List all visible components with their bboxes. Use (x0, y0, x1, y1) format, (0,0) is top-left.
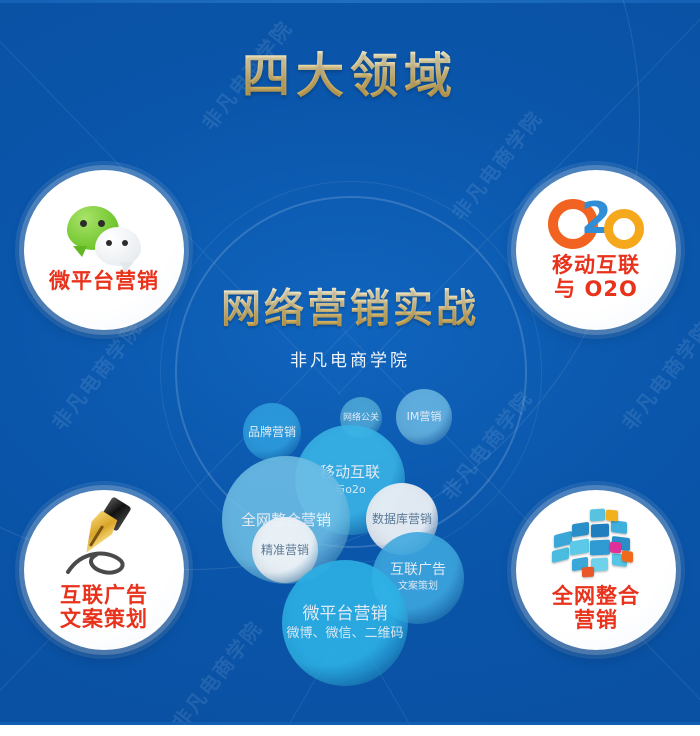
domain-medallion-bottom-left[interactable]: 互联广告 文案策划 (24, 490, 184, 650)
poster-root: 非凡电商学院 非凡电商学院 非凡电商学院 非凡电商学院 非凡电商学院 非凡电商学… (0, 0, 700, 736)
domain-medallion-bottom-right[interactable]: 全网整合 营销 (516, 490, 676, 650)
bubble-9[interactable]: 微平台营销微博、微信、二维码 (282, 560, 408, 686)
bubble-label: 微平台营销 (303, 604, 388, 625)
poster-heading-wrap: 四大领域 (0, 36, 700, 106)
center-subtitle: 非凡电商学院 (0, 346, 700, 371)
domain-label-top-left: 微平台营销 (49, 270, 159, 294)
domain-label-bottom-left-line1: 互联广告 (60, 584, 148, 608)
o2o-logo-icon: 2 (548, 198, 644, 250)
domain-label-top-right-line1: 移动互联 (552, 254, 640, 278)
bubble-label: 品牌营销 (248, 425, 296, 440)
wechat-icon (67, 206, 141, 266)
bubble-label: 互联广告 (390, 562, 446, 579)
pen-stroke-icon (64, 548, 142, 578)
domain-label-top-right-line2: 与 O2O (554, 278, 638, 302)
domain-medallion-top-right[interactable]: 2 移动互联 与 O2O (516, 170, 676, 330)
bubble-label: 数据库营销 (372, 512, 432, 527)
domain-label-bottom-right-line2: 营销 (574, 609, 618, 633)
domain-label-bottom-right-line1: 全网整合 (552, 585, 640, 609)
bubble-1[interactable]: 品牌营销 (243, 403, 301, 461)
fountain-pen-icon (58, 508, 150, 580)
bubble-label: 精准营销 (261, 543, 309, 558)
bubble-sublabel: 微博、微信、二维码 (286, 626, 403, 642)
domain-label-bottom-left-line2: 文案策划 (60, 608, 148, 632)
bubble-label: IM营销 (407, 410, 442, 423)
bubble-sublabel: 文案策划 (398, 581, 438, 593)
poster-heading: 四大领域 (242, 36, 458, 106)
bubble-label: 网络公关 (343, 413, 379, 424)
bubble-3[interactable]: IM营销 (396, 389, 452, 445)
network-blocks-icon (550, 507, 642, 581)
domain-medallion-top-left[interactable]: 微平台营销 (24, 170, 184, 330)
